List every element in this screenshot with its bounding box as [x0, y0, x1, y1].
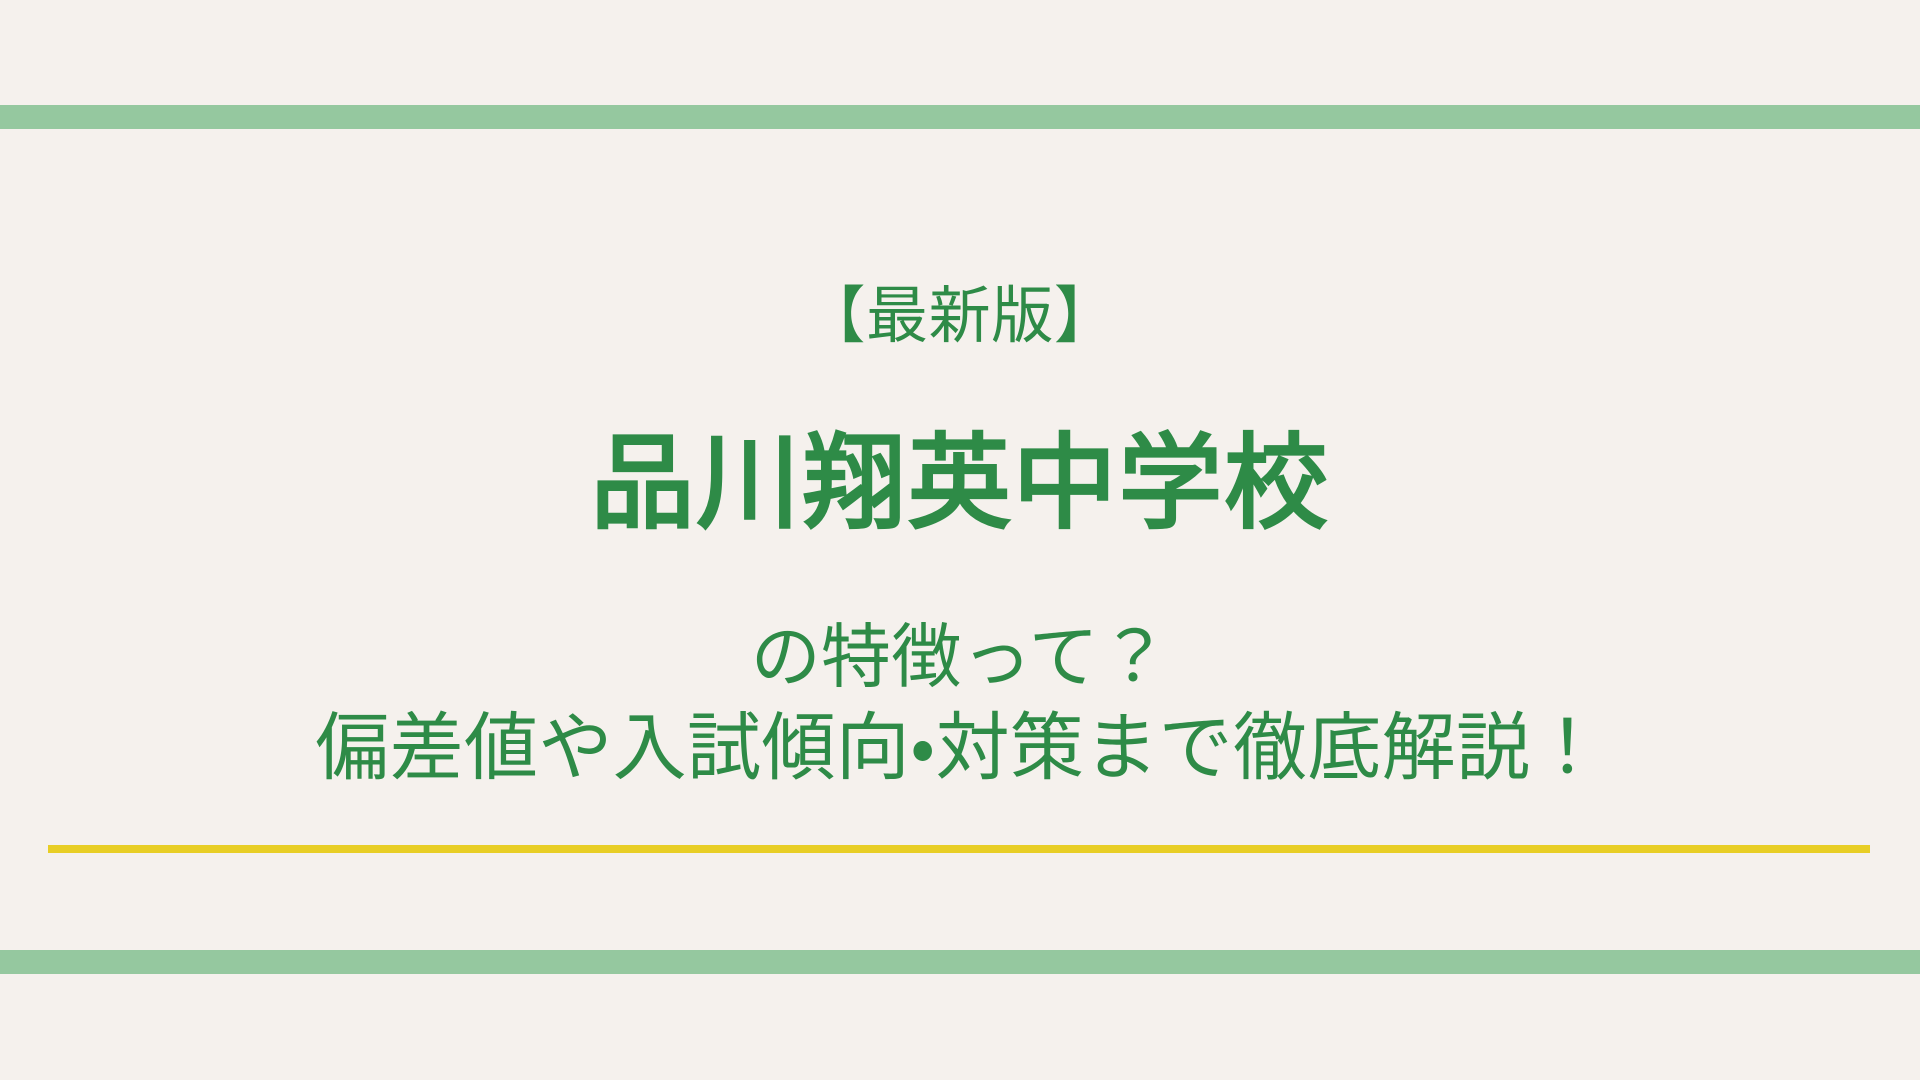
headline-block: 【最新版】 品川翔英中学校 の特徴って？ 偏差値や入試傾向・対策まで徹底解説！	[0, 0, 1920, 1080]
yellow-underline	[48, 845, 1870, 853]
subtitle-line-1: の特徴って？	[315, 614, 1604, 702]
subtitle-line-2: 偏差値や入試傾向・対策まで徹底解説！	[315, 702, 1604, 795]
subtitle-group: の特徴って？ 偏差値や入試傾向・対策まで徹底解説！	[315, 614, 1604, 794]
bottom-green-rule	[0, 950, 1920, 974]
eyecatch-banner: 【最新版】 品川翔英中学校 の特徴って？ 偏差値や入試傾向・対策まで徹底解説！	[0, 0, 1920, 1080]
school-name-title: 品川翔英中学校	[591, 432, 1330, 536]
latest-version-badge: 【最新版】	[803, 286, 1116, 348]
